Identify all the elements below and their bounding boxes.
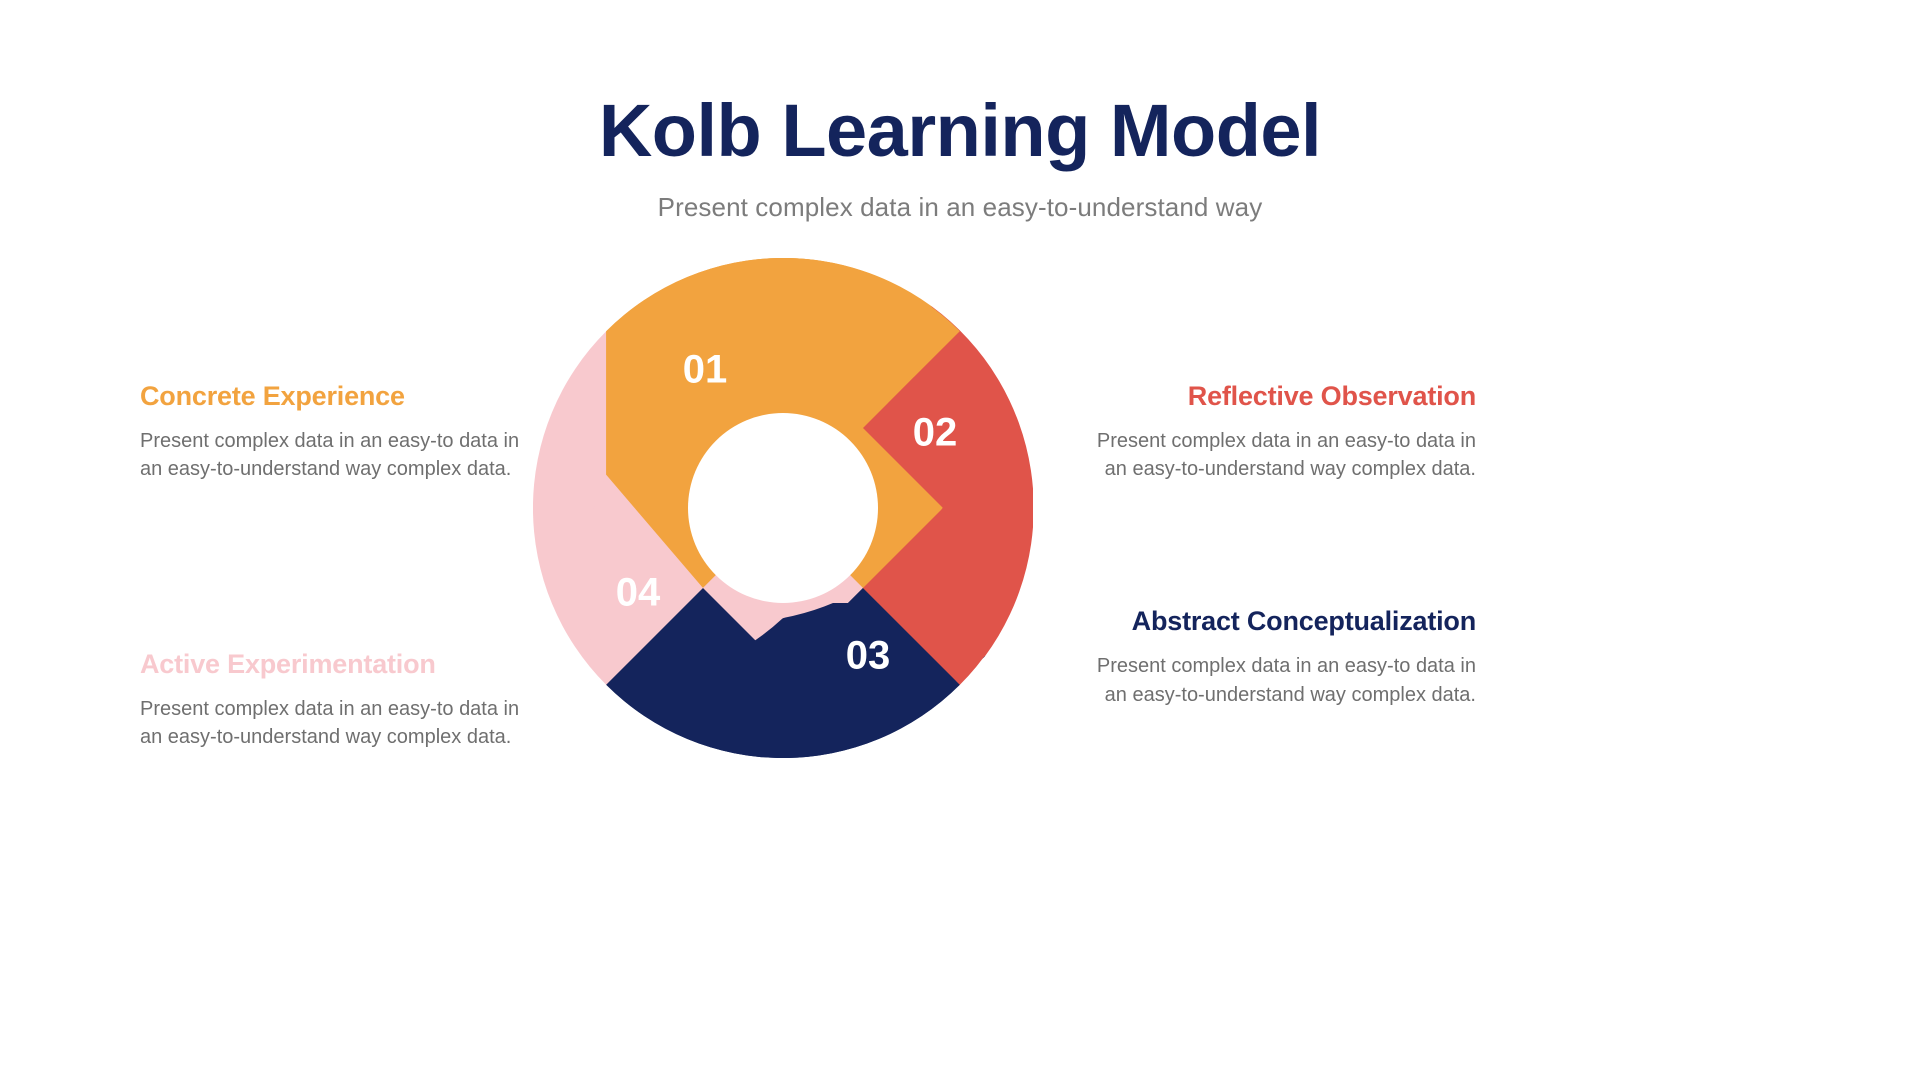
legend-body-concrete-experience: Present complex data in an easy-to data … bbox=[140, 427, 522, 484]
legend-block-concrete-experience: Concrete Experience Present complex data… bbox=[140, 380, 522, 484]
donut-center-hole bbox=[688, 413, 878, 603]
legend-body-active-experimentation: Present complex data in an easy-to data … bbox=[140, 695, 522, 752]
page-title: Kolb Learning Model bbox=[0, 92, 1920, 170]
kolb-cycle-donut-chart: 01 02 03 04 bbox=[533, 258, 1033, 758]
legend-title-concrete-experience: Concrete Experience bbox=[140, 380, 522, 413]
legend-block-active-experimentation: Active Experimentation Present complex d… bbox=[140, 648, 522, 752]
donut-svg: 01 02 03 04 bbox=[533, 258, 1033, 758]
legend-body-abstract-conceptualization: Present complex data in an easy-to data … bbox=[1094, 652, 1476, 709]
page-subtitle: Present complex data in an easy-to-under… bbox=[0, 192, 1920, 223]
header: Kolb Learning Model Present complex data… bbox=[0, 92, 1920, 223]
donut-label-01: 01 bbox=[683, 348, 728, 392]
legend-block-abstract-conceptualization: Abstract Conceptualization Present compl… bbox=[1094, 605, 1476, 709]
legend-block-reflective-observation: Reflective Observation Present complex d… bbox=[1094, 380, 1476, 484]
legend-body-reflective-observation: Present complex data in an easy-to data … bbox=[1094, 427, 1476, 484]
donut-label-04: 04 bbox=[616, 571, 661, 615]
legend-title-abstract-conceptualization: Abstract Conceptualization bbox=[1094, 605, 1476, 638]
legend-title-active-experimentation: Active Experimentation bbox=[140, 648, 522, 681]
donut-label-02: 02 bbox=[913, 411, 958, 455]
legend-title-reflective-observation: Reflective Observation bbox=[1094, 380, 1476, 413]
donut-label-03: 03 bbox=[846, 634, 891, 678]
infographic-canvas: Kolb Learning Model Present complex data… bbox=[0, 0, 1920, 1080]
